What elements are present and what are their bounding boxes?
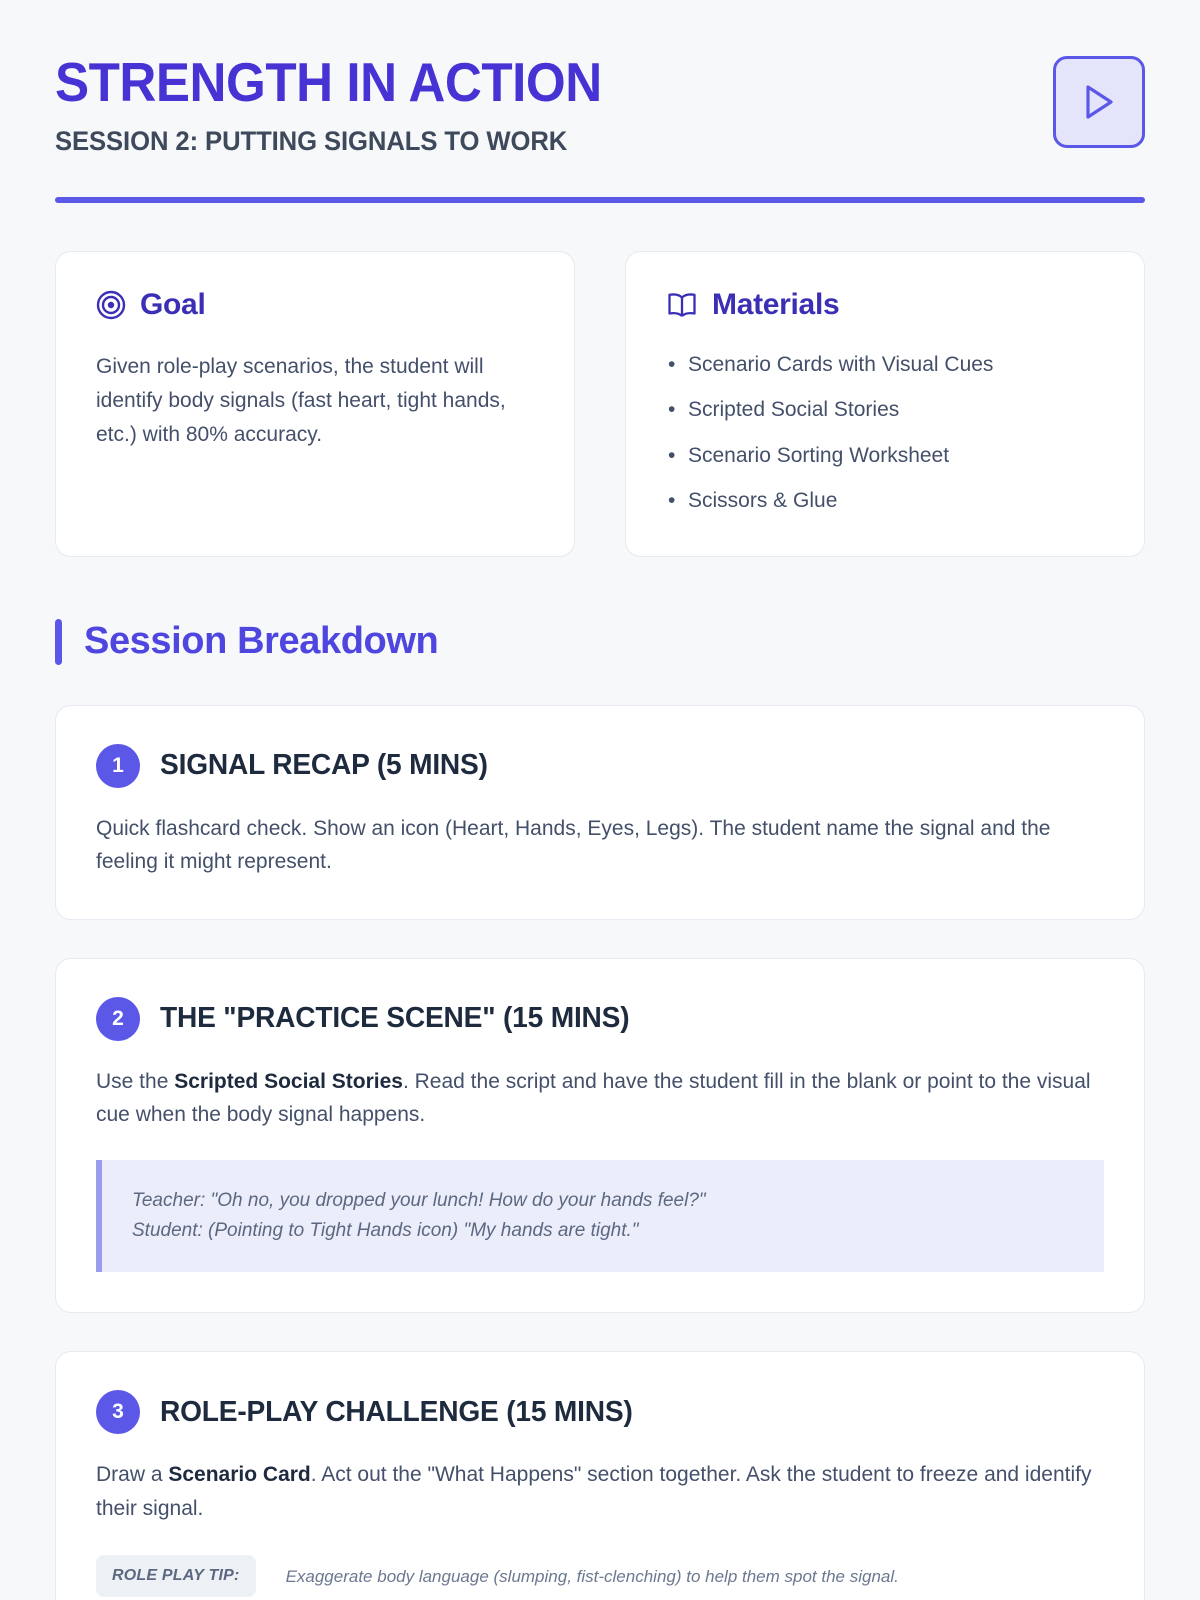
script-example-quote: Teacher: "Oh no, you dropped your lunch!… [96, 1160, 1104, 1272]
info-cards-row: Goal Given role-play scenarios, the stud… [55, 251, 1145, 557]
step-body: Use the Scripted Social Stories. Read th… [96, 1065, 1104, 1132]
goal-card: Goal Given role-play scenarios, the stud… [55, 251, 575, 557]
steps-list: 1 SIGNAL RECAP (5 MINS) Quick flashcard … [55, 705, 1145, 1600]
page-header: STRENGTH IN ACTION SESSION 2: PUTTING SI… [55, 52, 1145, 157]
book-icon [666, 291, 698, 319]
step-number-badge: 3 [96, 1390, 140, 1434]
quote-line-teacher: Teacher: "Oh no, you dropped your lunch!… [132, 1186, 1074, 1216]
step-card-1: 1 SIGNAL RECAP (5 MINS) Quick flashcard … [55, 705, 1145, 920]
header-text-block: STRENGTH IN ACTION SESSION 2: PUTTING SI… [55, 52, 643, 157]
step-number-badge: 1 [96, 744, 140, 788]
step-title: THE "PRACTICE SCENE" (15 MINS) [160, 1002, 629, 1035]
step-card-3: 3 ROLE-PLAY CHALLENGE (15 MINS) Draw a S… [55, 1351, 1145, 1600]
step-2-header: 2 THE "PRACTICE SCENE" (15 MINS) [96, 997, 1104, 1041]
list-item: Scripted Social Stories [666, 395, 1104, 424]
list-item: Scenario Cards with Visual Cues [666, 350, 1104, 379]
session-breakdown-heading: Session Breakdown [55, 619, 1145, 665]
role-play-tip-row: ROLE PLAY TIP: Exaggerate body language … [96, 1555, 1104, 1597]
lesson-plan-page: STRENGTH IN ACTION SESSION 2: PUTTING SI… [0, 0, 1200, 1600]
step-title: ROLE-PLAY CHALLENGE (15 MINS) [160, 1396, 633, 1429]
step-body-emphasis: Scenario Card [168, 1463, 310, 1486]
goal-card-text: Given role-play scenarios, the student w… [96, 350, 534, 452]
target-icon [96, 290, 126, 320]
list-item: Scenario Sorting Worksheet [666, 441, 1104, 470]
tip-text: Exaggerate body language (slumping, fist… [286, 1564, 899, 1590]
goal-card-title: Goal [140, 288, 205, 322]
list-item: Scissors & Glue [666, 486, 1104, 515]
goal-card-header: Goal [96, 288, 534, 322]
step-body-text-pre: Use the [96, 1070, 174, 1093]
step-number-badge: 2 [96, 997, 140, 1041]
step-1-header: 1 SIGNAL RECAP (5 MINS) [96, 744, 1104, 788]
step-body-text-pre: Draw a [96, 1463, 168, 1486]
step-3-header: 3 ROLE-PLAY CHALLENGE (15 MINS) [96, 1390, 1104, 1434]
materials-card-title: Materials [712, 288, 839, 322]
play-button[interactable] [1053, 56, 1145, 148]
step-body-emphasis: Scripted Social Stories [174, 1070, 403, 1093]
step-body: Quick flashcard check. Show an icon (Hea… [96, 812, 1104, 879]
play-icon [1082, 83, 1116, 121]
page-title: STRENGTH IN ACTION [55, 54, 602, 110]
section-title: Session Breakdown [84, 620, 438, 663]
materials-list: Scenario Cards with Visual Cues Scripted… [666, 350, 1104, 516]
step-title: SIGNAL RECAP (5 MINS) [160, 749, 488, 782]
step-card-2: 2 THE "PRACTICE SCENE" (15 MINS) Use the… [55, 958, 1145, 1313]
step-body-text: Quick flashcard check. Show an icon (Hea… [96, 817, 1050, 874]
page-subtitle: SESSION 2: PUTTING SIGNALS TO WORK [55, 126, 613, 157]
materials-card-header: Materials [666, 288, 1104, 322]
header-divider [55, 197, 1145, 203]
heading-accent-bar [55, 619, 62, 665]
quote-line-student: Student: (Pointing to Tight Hands icon) … [132, 1216, 1074, 1246]
tip-badge: ROLE PLAY TIP: [96, 1555, 256, 1597]
materials-card: Materials Scenario Cards with Visual Cue… [625, 251, 1145, 557]
step-body: Draw a Scenario Card. Act out the "What … [96, 1458, 1104, 1525]
